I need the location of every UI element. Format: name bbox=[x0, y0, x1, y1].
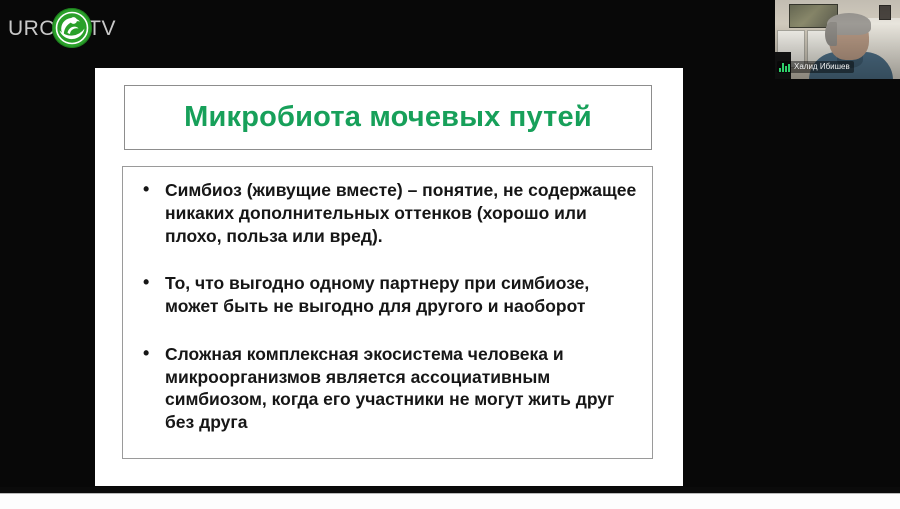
slide-body-box: Симбиоз (живущие вместе) – понятие, не с… bbox=[122, 166, 653, 459]
urotv-circle-logo-icon bbox=[52, 8, 92, 48]
list-item: Симбиоз (живущие вместе) – понятие, не с… bbox=[135, 179, 642, 247]
screen: URO TV Микробиота мочевых путей bbox=[0, 0, 900, 508]
slide-title-box: Микробиота мочевых путей bbox=[124, 85, 652, 150]
slide-bullet-list: Симбиоз (живущие вместе) – понятие, не с… bbox=[135, 179, 642, 434]
logo-text-tv: TV bbox=[88, 18, 116, 39]
participant-name-badge: Халид Ибишев bbox=[777, 61, 854, 73]
participant-name: Халид Ибишев bbox=[794, 62, 850, 72]
list-item: Сложная комплексная экосистема человека … bbox=[135, 343, 642, 434]
slide-sheet: Микробиота мочевых путей Симбиоз (живущи… bbox=[95, 68, 683, 486]
participant-video-tile[interactable]: Халид Ибишев bbox=[775, 0, 900, 79]
microphone-level-icon bbox=[779, 63, 790, 72]
logo-text-uro: URO bbox=[8, 18, 56, 39]
window-bottom-strip bbox=[0, 493, 900, 509]
urotv-logo: URO TV bbox=[8, 8, 116, 48]
slide-title: Микробиота мочевых путей bbox=[184, 101, 592, 134]
list-item: То, что выгодно одному партнеру при симб… bbox=[135, 272, 642, 318]
presentation-canvas: URO TV Микробиота мочевых путей bbox=[0, 0, 900, 493]
